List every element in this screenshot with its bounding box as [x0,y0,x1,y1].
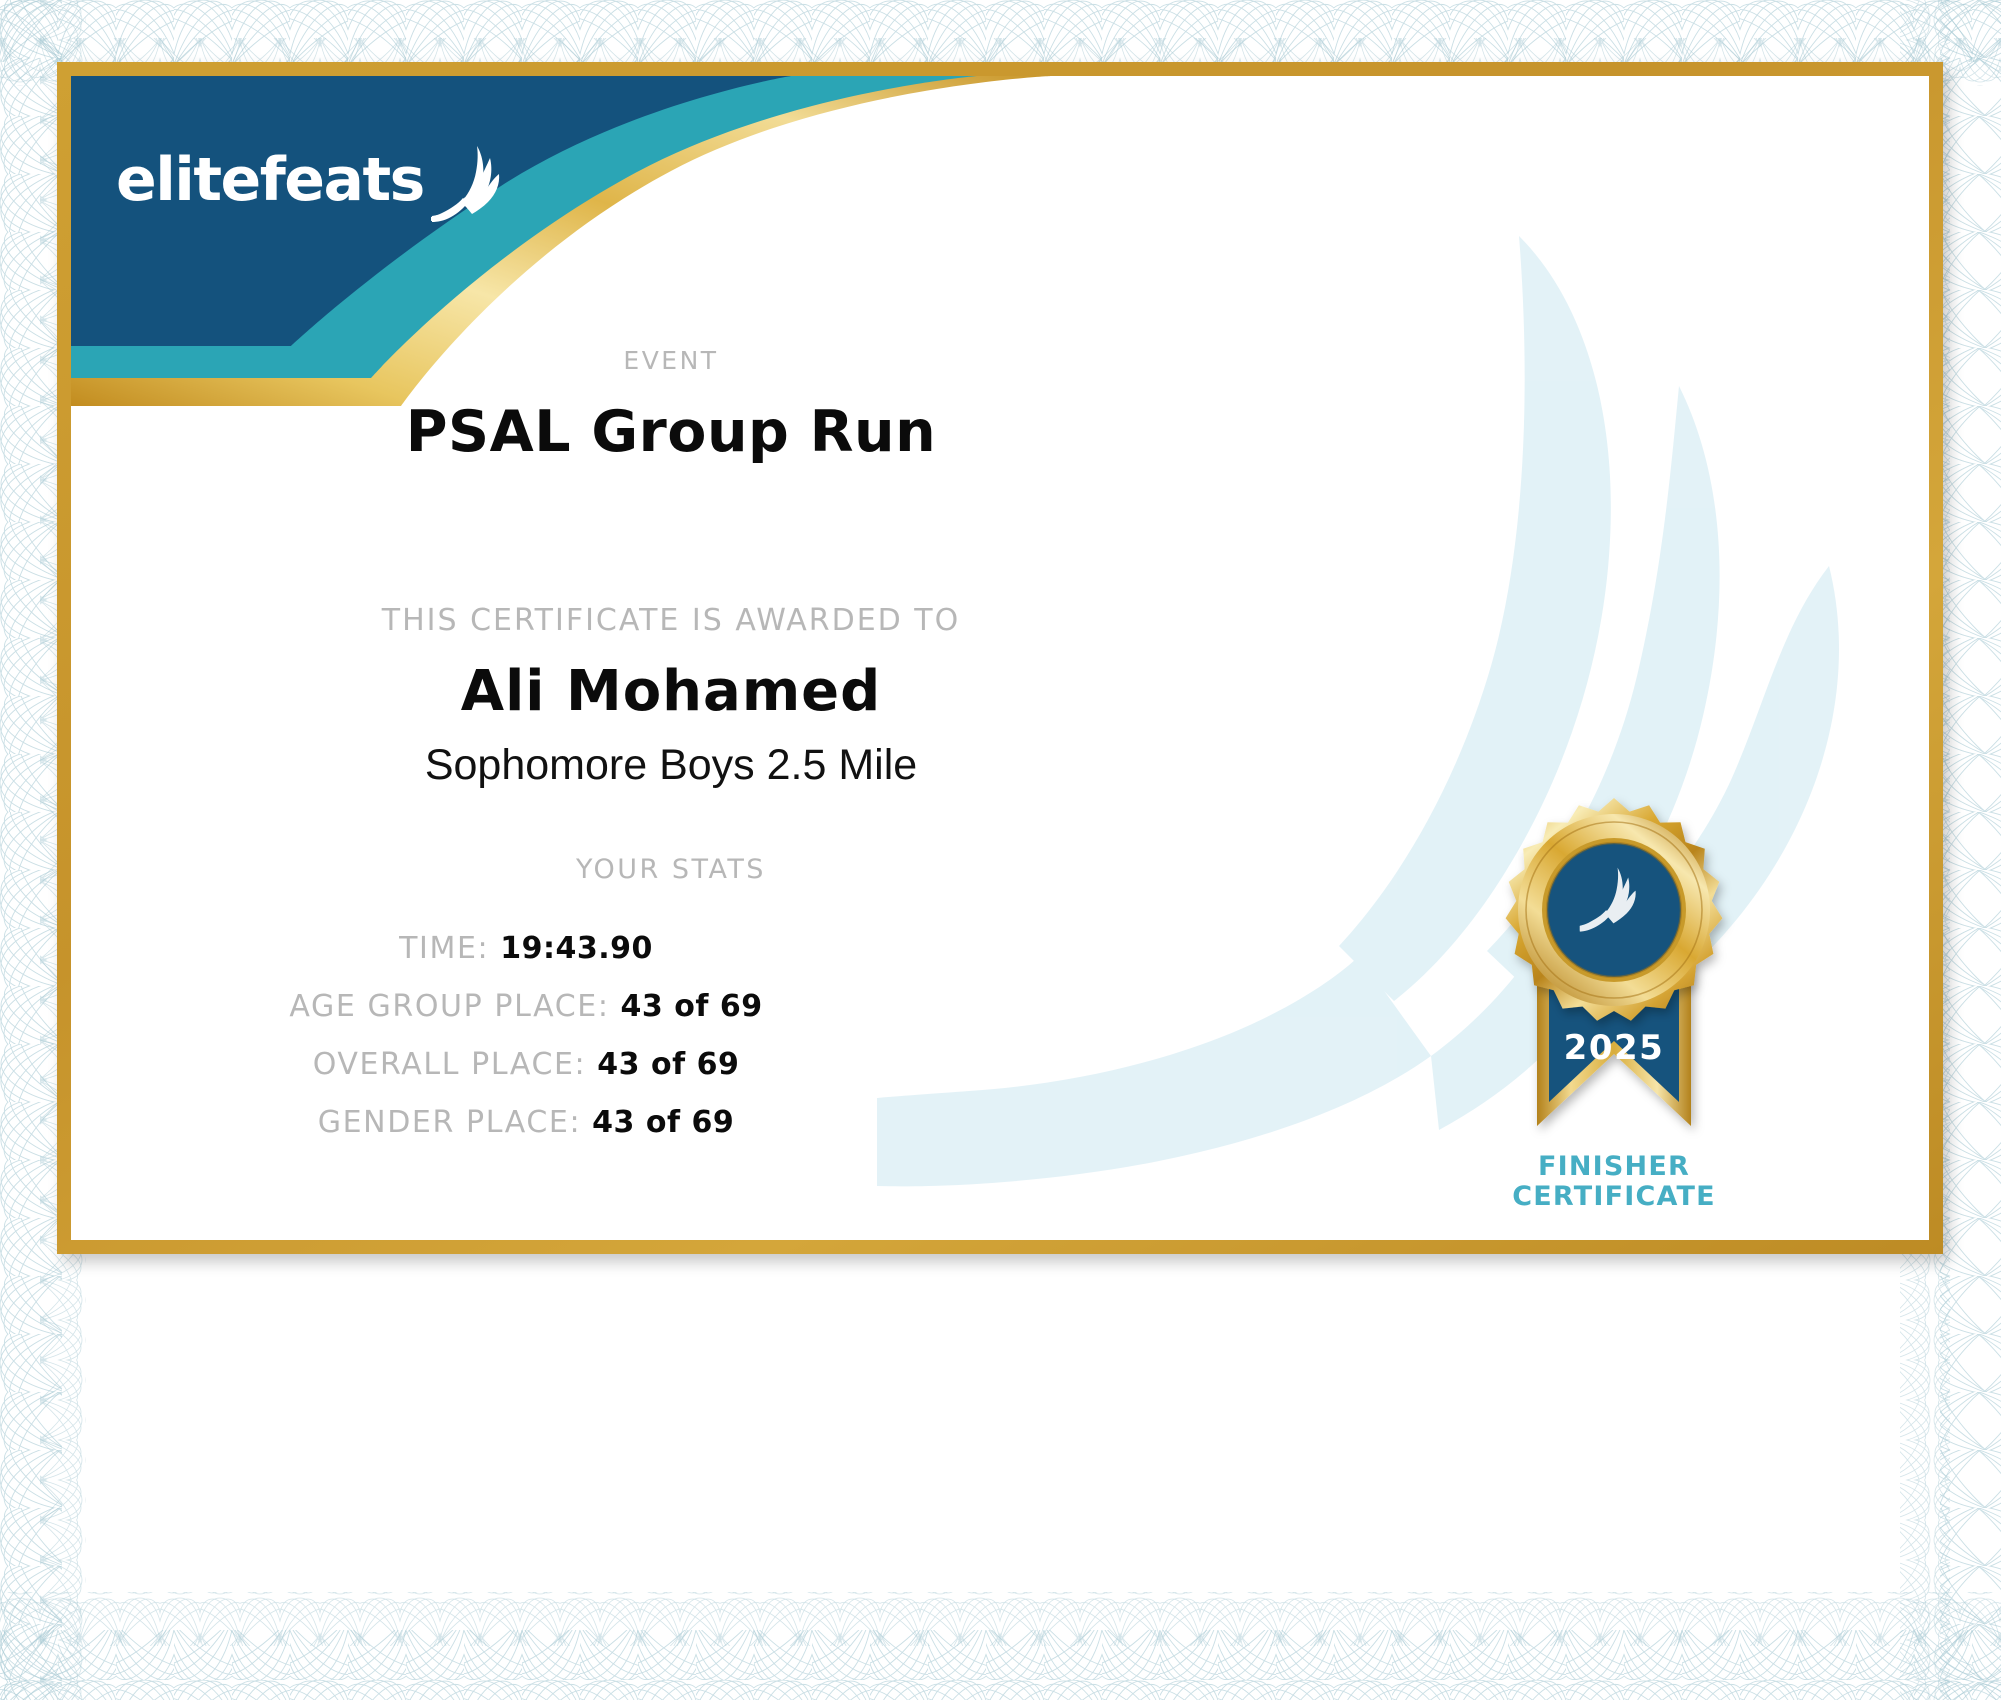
awarded-to-label: THIS CERTIFICATE IS AWARDED TO [71,603,1271,638]
stat-row-age-group-place: AGE GROUP PLACE: 43 of 69 [71,989,1271,1024]
stat-row-time: TIME: 19:43.90 [71,931,1271,966]
certificate-content: EVENT PSAL Group Run THIS CERTIFICATE IS… [71,76,1271,1240]
medal-year: 2025 [1564,1028,1665,1068]
event-label: EVENT [71,346,1271,375]
certificate-page: elitefeats EVENT PSAL Group Run THIS CER… [0,0,2001,1700]
stat-row-overall-place: OVERALL PLACE: 43 of 69 [71,1047,1271,1082]
event-name: PSAL Group Run [71,399,1271,465]
seal-caption-line-2: CERTIFICATE [1449,1182,1779,1212]
seal-caption-line-1: FINISHER [1449,1152,1779,1182]
certificate-frame: elitefeats EVENT PSAL Group Run THIS CER… [57,62,1943,1254]
stat-key: OVERALL PLACE: [313,1047,587,1082]
stat-value: 43 of 69 [592,1105,734,1140]
stats-list: TIME: 19:43.90 AGE GROUP PLACE: 43 of 69… [71,931,1271,1163]
stat-key: TIME: [399,931,489,966]
elitefeats-logo: elitefeats [116,138,502,222]
stat-value: 43 of 69 [621,989,763,1024]
stat-value: 19:43.90 [500,931,653,966]
certificate-body: elitefeats EVENT PSAL Group Run THIS CER… [71,76,1929,1240]
stats-label: YOUR STATS [71,854,1271,885]
stat-value: 43 of 69 [597,1047,739,1082]
winged-foot-icon [430,144,502,222]
stat-key: GENDER PLACE: [318,1105,581,1140]
recipient-name: Ali Mohamed [71,659,1271,724]
stat-key: AGE GROUP PLACE: [289,989,609,1024]
finisher-medal-seal: 2025 FINISHER CERTIFICATE [1449,786,1779,1216]
seal-caption: FINISHER CERTIFICATE [1449,1152,1779,1212]
logo-wordmark: elitefeats [116,150,424,210]
stat-row-gender-place: GENDER PLACE: 43 of 69 [71,1105,1271,1140]
medal-graphic: 2025 [1449,786,1779,1166]
recipient-division: Sophomore Boys 2.5 Mile [71,741,1271,790]
